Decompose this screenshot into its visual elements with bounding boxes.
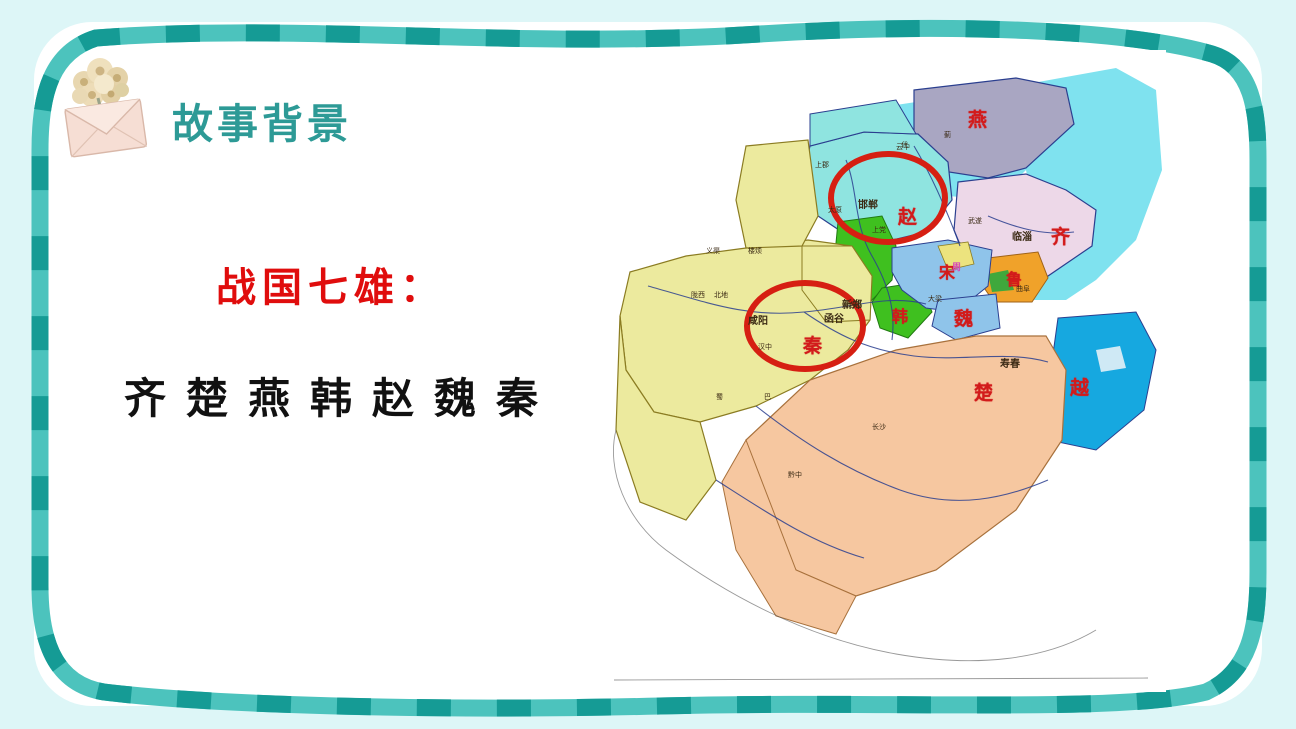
envelope-with-flowers-icon xyxy=(58,52,154,160)
headline-seven-states: 战国七雄： xyxy=(96,255,566,313)
slide-header: 故事背景 xyxy=(58,52,352,160)
content-text-block: 战国七雄： 齐楚燕韩赵魏秦 xyxy=(96,255,566,426)
state-name-6: 秦 xyxy=(496,365,538,426)
states-list: 齐楚燕韩赵魏秦 xyxy=(96,365,566,426)
page-title: 故事背景 xyxy=(172,90,352,150)
highlight-circle-zhao xyxy=(828,151,948,245)
state-name-0: 齐 xyxy=(124,365,166,426)
state-name-3: 韩 xyxy=(310,365,352,426)
highlight-circle-qin xyxy=(744,280,866,372)
state-name-1: 楚 xyxy=(186,365,228,426)
warring-states-map: 燕赵齐魏秦楚越韩鲁宋咸阳邯郸临淄寿春函谷新郑上郡云中代太原上党蓟武遂洛邑大梁汉中… xyxy=(596,50,1166,692)
state-name-4: 赵 xyxy=(372,365,414,426)
state-name-2: 燕 xyxy=(248,365,290,426)
state-name-5: 魏 xyxy=(434,365,476,426)
slide-root: 故事背景 战国七雄： 齐楚燕韩赵魏秦 xyxy=(0,0,1296,729)
